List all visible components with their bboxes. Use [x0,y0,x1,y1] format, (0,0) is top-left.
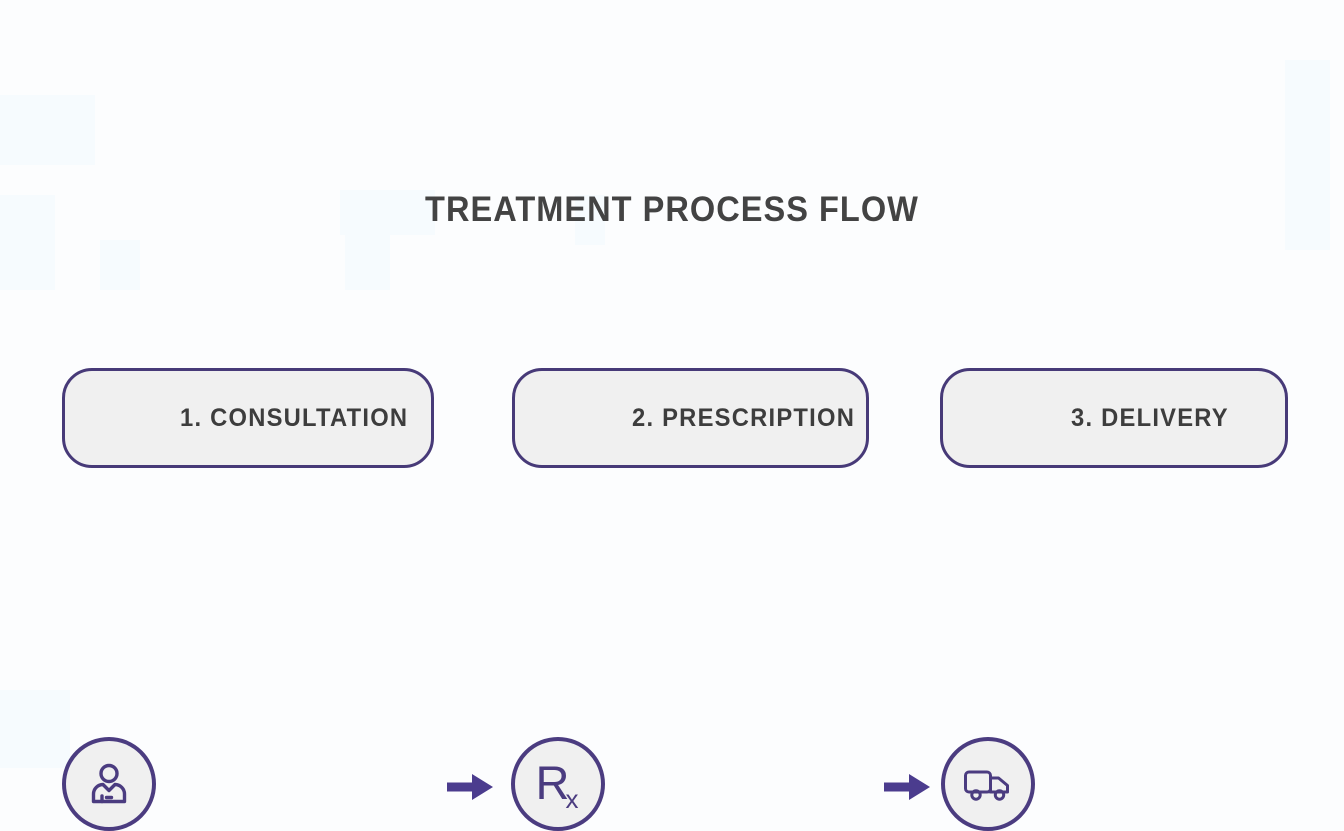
step-icon-badge-prescription: Rx [511,737,605,831]
process-step-prescription[interactable]: 2. PRESCRIPTION [512,368,869,468]
process-flow-row: 1. CONSULTATION 2. PRESCRIPTION 3. DELIV… [0,368,1344,470]
delivery-truck-icon [963,764,1013,804]
rx-letter-r: R [536,756,569,809]
background-texture [345,235,390,290]
arrow-right-icon [447,773,493,801]
background-texture [100,240,140,290]
doctor-person-icon [85,760,133,808]
background-texture [0,690,70,768]
rx-prescription-icon: Rx [536,759,581,806]
process-step-delivery[interactable]: 3. DELIVERY [940,368,1288,468]
page-title: TREATMENT PROCESS FLOW [47,190,1297,230]
process-step-label: 1. CONSULTATION [180,404,408,433]
diagram-canvas: TREATMENT PROCESS FLOW 1. CONSULTATION 2… [0,0,1344,768]
process-step-consultation[interactable]: 1. CONSULTATION [62,368,434,468]
arrow-right-icon [884,773,930,801]
process-step-label: 3. DELIVERY [1071,404,1229,433]
step-icon-badge-consultation [62,737,156,831]
background-texture [0,95,95,165]
step-icon-badge-delivery [941,737,1035,831]
rx-letter-x: x [565,784,577,814]
process-step-label: 2. PRESCRIPTION [632,404,855,433]
